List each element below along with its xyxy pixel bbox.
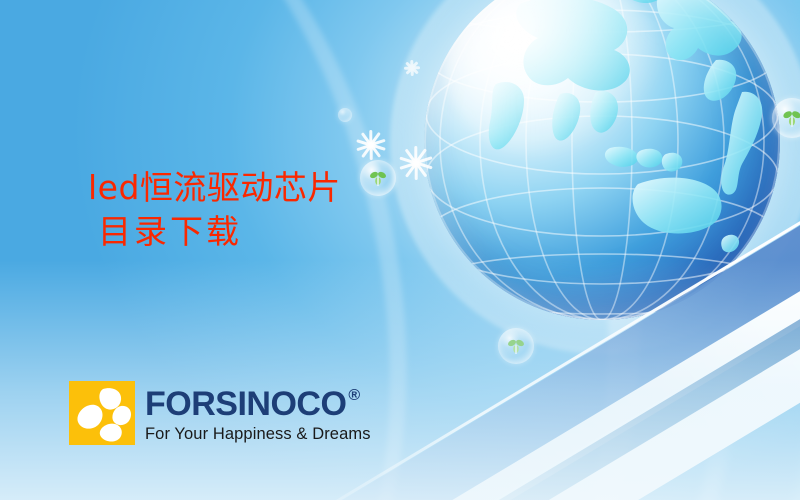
pinwheel-icon <box>780 106 800 130</box>
headline-line-2: 目录下载 <box>98 210 341 254</box>
brand-name: FORSINOCO ® <box>145 387 371 421</box>
brand-name-word: FORSINOCO <box>145 387 346 421</box>
brand-logo: FORSINOCO ® For Your Happiness & Dreams <box>69 381 371 445</box>
brand-tagline: For Your Happiness & Dreams <box>145 424 371 444</box>
pinwheel-icon <box>367 167 389 189</box>
bottom-fade <box>0 260 800 500</box>
registered-trademark-icon: ® <box>348 388 359 404</box>
bubble-pinwheel-icon <box>360 160 396 196</box>
brand-logo-text: FORSINOCO ® For Your Happiness & Dreams <box>145 381 371 444</box>
headline-line-1: led恒流驱动芯片 <box>88 166 341 210</box>
bubble-icon <box>338 108 352 122</box>
four-petal-flower-icon <box>69 381 135 445</box>
page-title: led恒流驱动芯片 目录下载 <box>88 166 341 254</box>
slide-canvas: led恒流驱动芯片 目录下载 FORSINOCO ® For Your Happ… <box>0 0 800 500</box>
